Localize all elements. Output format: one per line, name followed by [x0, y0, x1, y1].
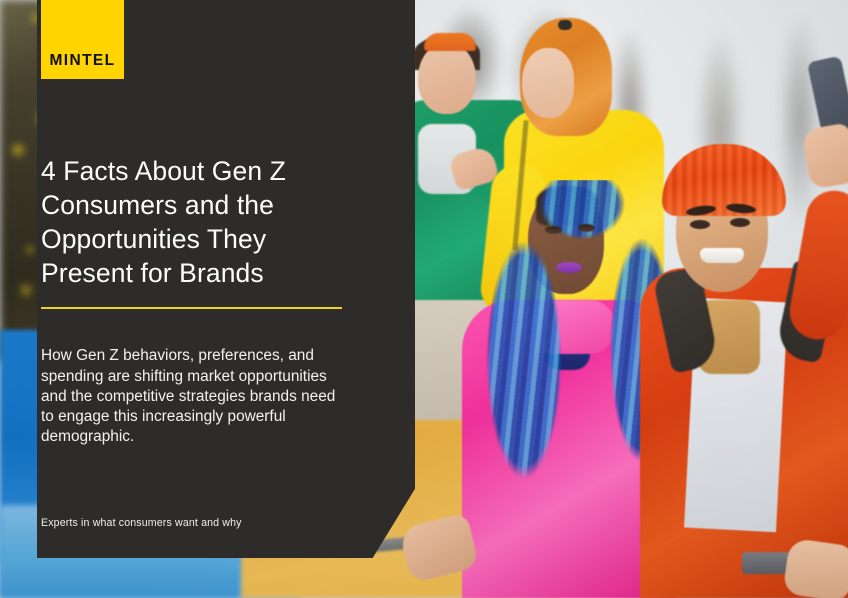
brand-tagline: Experts in what consumers want and why: [41, 517, 242, 529]
page-title: 4 Facts About Gen Z Consumers and the Op…: [41, 154, 359, 290]
accent-divider: [41, 307, 342, 309]
mintel-logo: MINTEL: [41, 0, 124, 79]
subtitle-text: How Gen Z behaviors, preferences, and sp…: [41, 346, 351, 447]
report-cover: MINTEL 4 Facts About Gen Z Consumers and…: [0, 0, 848, 598]
mintel-wordmark: MINTEL: [41, 52, 124, 70]
